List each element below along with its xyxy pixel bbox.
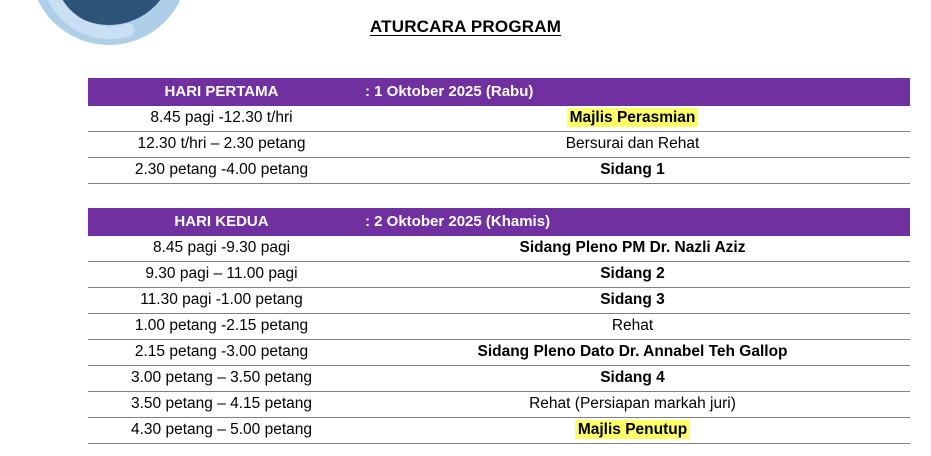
time-cell: 2.30 petang -4.00 petang <box>88 158 355 184</box>
event-cell: Rehat <box>355 314 910 340</box>
time-cell: 9.30 pagi – 11.00 pagi <box>88 262 355 288</box>
event-cell: Sidang Pleno PM Dr. Nazli Aziz <box>355 236 910 262</box>
table-row: 8.45 pagi -9.30 pagi Sidang Pleno PM Dr.… <box>88 236 910 262</box>
table-row: 9.30 pagi – 11.00 pagi Sidang 2 <box>88 262 910 288</box>
page-title: ATURCARA PROGRAM <box>0 17 931 37</box>
highlighted-event: Majlis Perasmian <box>567 108 699 127</box>
schedule-table-day-2: HARI KEDUA : 2 Oktober 2025 (Khamis) 8.4… <box>88 208 910 444</box>
table-row: 8.45 pagi -12.30 t/hri Majlis Perasmian <box>88 106 910 132</box>
table-row: 4.30 petang – 5.00 petang Majlis Penutup <box>88 418 910 444</box>
event-cell: Sidang 4 <box>355 366 910 392</box>
time-cell: 12.30 t/hri – 2.30 petang <box>88 132 355 158</box>
event-cell: Bersurai dan Rehat <box>355 132 910 158</box>
event-cell: Sidang 3 <box>355 288 910 314</box>
event-cell: Sidang Pleno Dato Dr. Annabel Teh Gallop <box>355 340 910 366</box>
day-header-row: HARI PERTAMA : 1 Oktober 2025 (Rabu) <box>88 78 910 106</box>
table-row: 2.30 petang -4.00 petang Sidang 1 <box>88 158 910 184</box>
schedule-table-day-1: HARI PERTAMA : 1 Oktober 2025 (Rabu) 8.4… <box>88 78 910 184</box>
time-cell: 8.45 pagi -9.30 pagi <box>88 236 355 262</box>
time-cell: 8.45 pagi -12.30 t/hri <box>88 106 355 132</box>
event-cell: Sidang 2 <box>355 262 910 288</box>
table-row: 1.00 petang -2.15 petang Rehat <box>88 314 910 340</box>
day-label: HARI PERTAMA <box>88 78 355 106</box>
event-cell: Majlis Penutup <box>355 418 910 444</box>
table-row: 3.50 petang – 4.15 petang Rehat (Persiap… <box>88 392 910 418</box>
table-row: 3.00 petang – 3.50 petang Sidang 4 <box>88 366 910 392</box>
day-date: : 2 Oktober 2025 (Khamis) <box>355 208 910 236</box>
table-row: 2.15 petang -3.00 petang Sidang Pleno Da… <box>88 340 910 366</box>
highlighted-event: Majlis Penutup <box>575 420 690 439</box>
day-header-row: HARI KEDUA : 2 Oktober 2025 (Khamis) <box>88 208 910 236</box>
table-row: 12.30 t/hri – 2.30 petang Bersurai dan R… <box>88 132 910 158</box>
event-cell: Rehat (Persiapan markah juri) <box>355 392 910 418</box>
event-cell: Majlis Perasmian <box>355 106 910 132</box>
time-cell: 4.30 petang – 5.00 petang <box>88 418 355 444</box>
event-cell: Sidang 1 <box>355 158 910 184</box>
time-cell: 3.00 petang – 3.50 petang <box>88 366 355 392</box>
time-cell: 1.00 petang -2.15 petang <box>88 314 355 340</box>
time-cell: 11.30 pagi -1.00 petang <box>88 288 355 314</box>
day-label: HARI KEDUA <box>88 208 355 236</box>
table-row: 11.30 pagi -1.00 petang Sidang 3 <box>88 288 910 314</box>
day-date: : 1 Oktober 2025 (Rabu) <box>355 78 910 106</box>
time-cell: 3.50 petang – 4.15 petang <box>88 392 355 418</box>
time-cell: 2.15 petang -3.00 petang <box>88 340 355 366</box>
